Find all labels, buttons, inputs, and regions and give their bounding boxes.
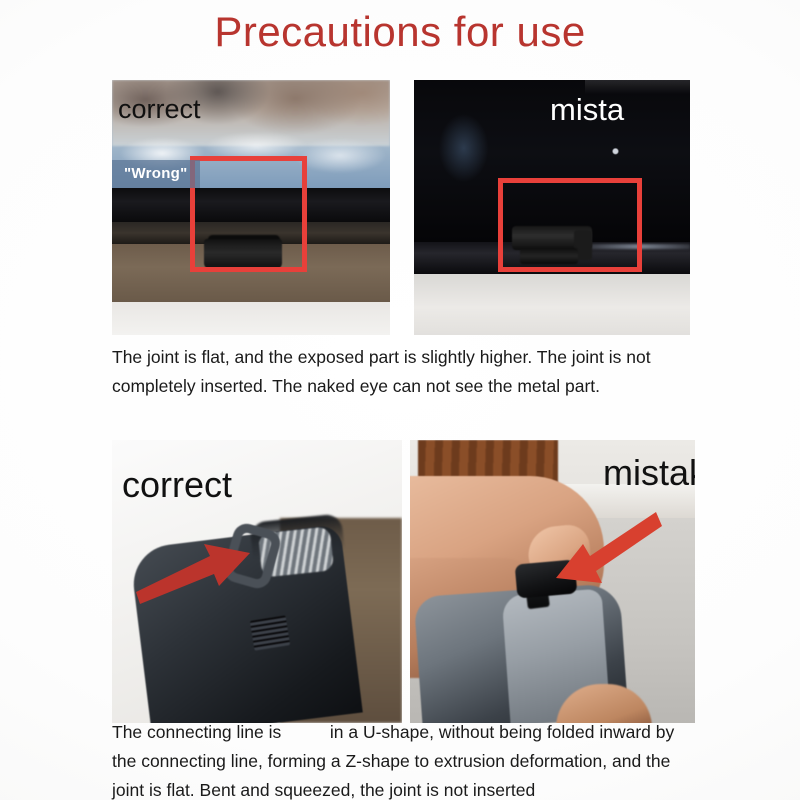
caption-cable-bend: The connecting line is in a U-shape, wit… <box>112 718 702 800</box>
highlight-box-top-right <box>498 178 642 272</box>
photo-panel-bottom-left-correct: correct <box>112 440 402 723</box>
photo-panel-top-left-correct: correct "Wrong" <box>112 80 390 335</box>
highlight-box-top-left <box>190 156 307 272</box>
caption-connector-seating: The joint is flat, and the exposed part … <box>112 343 700 401</box>
floor-surface <box>414 274 690 335</box>
floor-surface <box>112 302 390 335</box>
panel-label-correct-bottom: correct <box>122 464 232 506</box>
page-title: Precautions for use <box>0 8 800 56</box>
wrong-badge: "Wrong" <box>112 160 200 188</box>
panel-label-correct-top: correct <box>118 94 201 125</box>
panel-label-mistake-bottom: mistake <box>603 452 695 494</box>
photo-panel-top-right-mistake: mista <box>414 80 690 335</box>
photo-panel-bottom-right-mistake: mistake <box>410 440 695 723</box>
panel-label-mistake-top: mista <box>550 92 624 128</box>
precautions-infographic: Precautions for use correct "Wrong" <box>0 0 800 800</box>
